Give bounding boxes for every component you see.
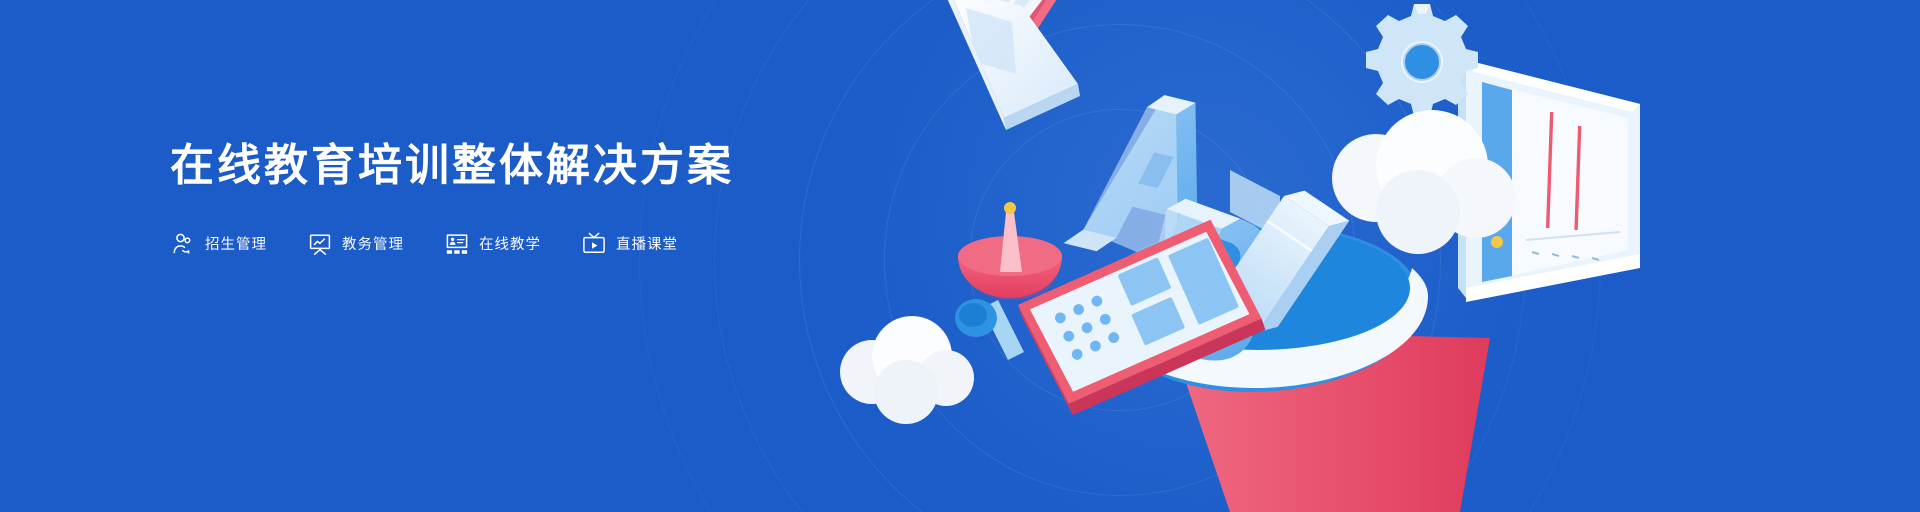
feature-label: 教务管理	[342, 233, 404, 254]
feature-item-academic-affairs[interactable]: 教务管理	[307, 231, 404, 257]
notebook-page	[946, 0, 1080, 130]
education-banner: 在线教育培训整体解决方案 招生管理	[0, 0, 1920, 512]
cloud-small	[840, 316, 974, 424]
feature-label: 直播课堂	[616, 233, 678, 254]
user-group-icon	[170, 231, 196, 257]
live-video-icon	[581, 231, 607, 257]
page-title: 在线教育培训整体解决方案	[170, 140, 810, 193]
presentation-chart-icon	[307, 231, 333, 257]
feature-item-enrollment[interactable]: 招生管理	[170, 231, 267, 257]
feature-item-online-teaching[interactable]: 在线教学	[444, 231, 541, 257]
banner-text-block: 在线教育培训整体解决方案 招生管理	[170, 140, 810, 257]
feature-label: 在线教学	[479, 233, 541, 254]
feature-list: 招生管理 教务管理	[170, 231, 810, 257]
feature-label: 招生管理	[205, 233, 267, 254]
feature-item-live-classroom[interactable]: 直播课堂	[581, 231, 678, 257]
gear-cog	[1366, 4, 1478, 116]
education-illustration	[760, 0, 1920, 512]
classroom-teaching-icon	[444, 231, 470, 257]
